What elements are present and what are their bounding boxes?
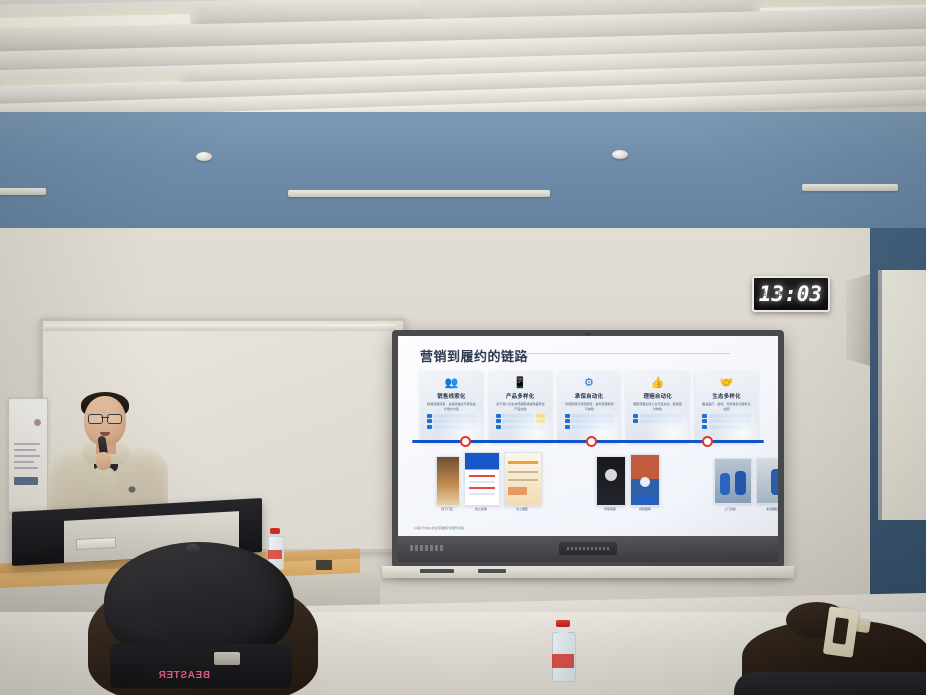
thumbnail-image[interactable] [596,456,626,506]
classroom-photo: 88:88 13:03 营销到履约的链路 👥 销售线索化 精准营销获客，多渠 [0,0,926,695]
thumbnail-caption: 线下门店 [430,506,465,511]
card-chip [633,414,682,418]
water-bottle-front[interactable] [552,620,574,680]
card-title: 承保自动化 [575,392,603,400]
card-chip [496,419,545,423]
feature-card[interactable]: 🤝 生态多样化 覆盖医疗、健康、养老等多元服务生态圈 [695,371,758,443]
ceiling-speaker [420,0,476,18]
card-chip [496,414,545,418]
mobile-hand-icon: 📱 [512,376,528,390]
smoke-detector-icon [612,150,628,159]
feature-card[interactable]: 👥 销售线索化 精准营销获客，多渠道触达与转化提升用户价值 [420,371,483,443]
bottle-cap-icon [556,620,570,627]
bottle-cap-icon [270,528,280,534]
timeline-node[interactable] [702,436,713,447]
thumbnail-image[interactable] [714,458,752,504]
card-chip [633,419,682,423]
student-with-hair-clip [742,598,926,695]
whiteboard-rail [44,324,396,331]
cap-buckle-icon [214,652,240,665]
thumbnail-caption: 上门查勘 [712,506,749,511]
thumbnail-image[interactable] [504,452,542,506]
card-chip-list [629,414,686,424]
card-chip [427,419,476,423]
card-title: 销售线索化 [437,392,465,400]
thumbnail-caption: 视频面审 [628,506,663,511]
cap-brand-text: BEASTER [158,670,210,681]
display-shelf [382,566,794,578]
card-chip-list [561,414,618,429]
card-chip [702,414,751,418]
thumbs-up-icon: 👍 [650,376,666,390]
poster-dot-icon [34,419,41,426]
card-chip [496,425,545,429]
display-control-panel[interactable] [559,542,617,555]
display-bottom-bezel [398,536,778,562]
feature-card[interactable]: 👍 理赔自动化 理赔流程全线上化与自动化，极速赔付体验 [626,371,689,443]
card-chip [702,425,751,429]
camera-icon [585,332,592,335]
right-framed-board [878,270,926,520]
wall-socket[interactable] [316,560,332,570]
thumbnail-image[interactable] [464,452,500,506]
card-chip-list [423,414,480,429]
marker-pen[interactable] [478,569,506,573]
air-vent [0,188,46,195]
card-chip [565,414,614,418]
wall-speaker [846,274,870,366]
card-title: 产品多样化 [506,392,534,400]
card-chip [702,419,751,423]
feature-card[interactable]: 📱 产品多样化 基于用户全生命周期需求提供差异化产品方案 [489,371,552,443]
timeline-node[interactable] [586,436,597,447]
card-description: 理赔流程全线上化与自动化，极速赔付体验 [631,402,685,411]
air-vent [802,184,898,191]
feature-card-row: 👥 销售线索化 精准营销获客，多渠道触达与转化提升用户价值 📱 产品多样化 基于… [420,371,758,443]
display-brand-logo [410,545,444,551]
card-chip [427,414,476,418]
slide-title: 营销到履约的链路 [420,346,764,365]
handshake-icon: 🤝 [719,376,735,390]
two-people-icon: 👥 [443,376,459,390]
smoke-detector-icon [196,152,212,161]
cap-button-icon [186,544,200,555]
presenter-hand [96,452,111,470]
title-divider [518,353,730,354]
thumbnail-strip: 线下门店 线上投保 [414,450,768,522]
card-title: 生态多样化 [712,392,740,400]
cap-back-band [110,644,292,688]
glasses-icon [88,414,122,422]
air-vent [288,190,550,197]
thumbnail-image[interactable] [756,458,778,504]
shield-gear-icon: ⚙ [581,376,597,390]
card-description: 覆盖医疗、健康、养老等多元服务生态圈 [700,402,754,411]
slide-footnote: 以客户为中心的全流程数字化服务链路 [414,525,464,530]
journey-timeline [412,440,764,443]
presentation-slide: 营销到履约的链路 👥 销售线索化 精准营销获客，多渠道触达与转化提升用户价值 [398,336,778,536]
card-title: 理赔自动化 [644,392,672,400]
display-screen[interactable]: 营销到履约的链路 👥 销售线索化 精准营销获客，多渠道触达与转化提升用户价值 [398,336,778,536]
thumbnail-caption: 车险理赔 [754,506,778,511]
clock-dim-segments: 88:88 [762,291,790,298]
ceiling [0,0,926,118]
poster-band [14,477,38,485]
card-description: 智能核保与风控前置，提升核保效率与体验 [562,402,616,411]
interactive-display[interactable]: 营销到履约的链路 👥 销售线索化 精准营销获客，多渠道触达与转化提升用户价值 [392,330,784,568]
timeline-node[interactable] [460,436,471,447]
thumbnail-caption: 线上投保 [464,506,499,511]
card-chip-list [698,414,755,429]
card-chip [565,425,614,429]
wall-notice [8,398,48,512]
thumbnail-caption: 线上理赔 [504,506,541,511]
student-with-cap: BEASTER [98,536,308,695]
card-description: 基于用户全生命周期需求提供差异化产品方案 [493,402,547,411]
student-shoulder [734,672,926,695]
ceiling-blue-band [0,112,926,232]
jacket-logo-icon [126,484,138,493]
thumbnail-image[interactable] [630,454,660,506]
marker-pen[interactable] [420,569,454,573]
card-chip [565,419,614,423]
card-chip [427,425,476,429]
thumbnail-image[interactable] [436,456,460,506]
thumbnail-caption: 智能客服 [593,506,626,511]
card-chip-list [492,414,549,429]
card-description: 精准营销获客，多渠道触达与转化提升用户价值 [424,402,478,411]
feature-card[interactable]: ⚙ 承保自动化 智能核保与风控前置，提升核保效率与体验 [558,371,621,443]
wall-digital-clock: 88:88 13:03 [752,276,830,312]
